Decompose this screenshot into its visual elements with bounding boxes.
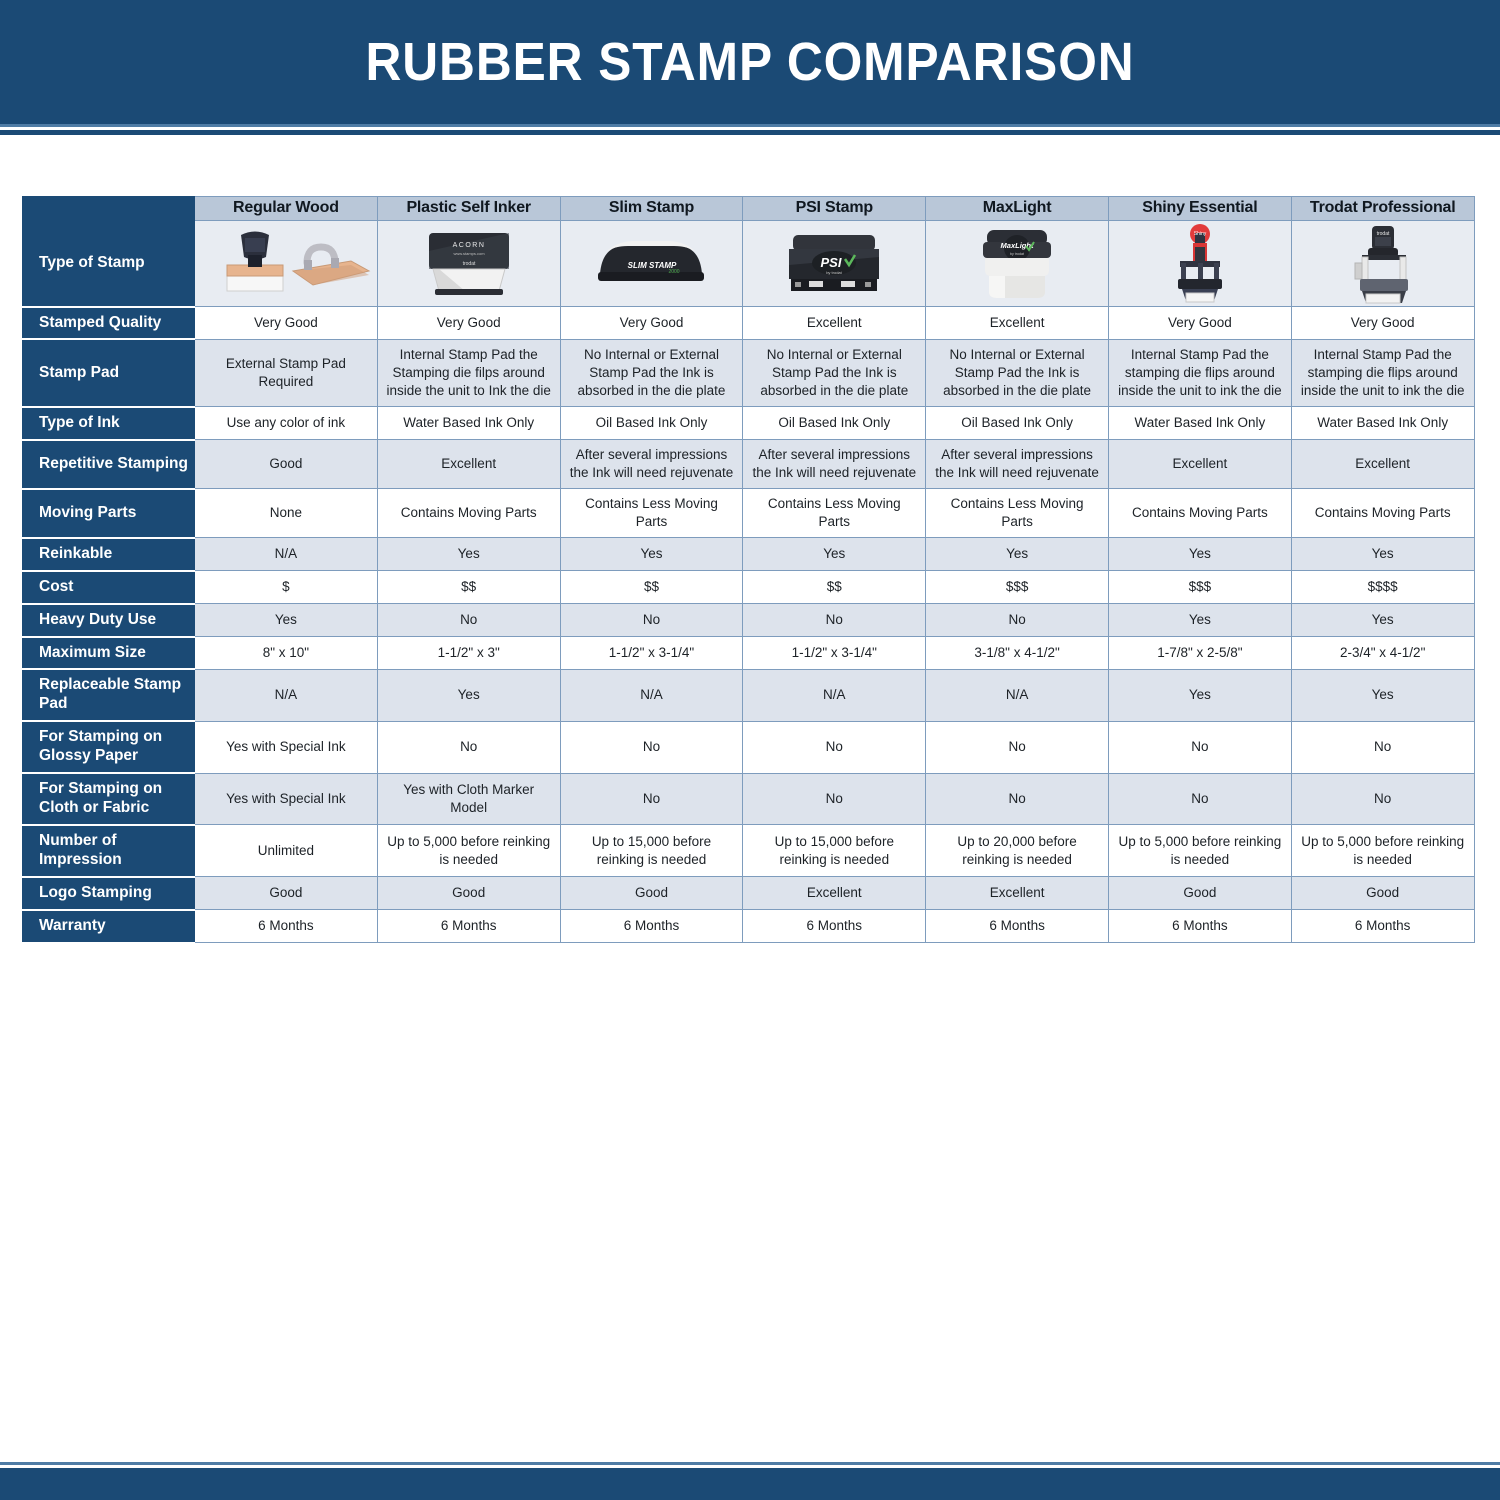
- column-header-slim_stamp: Slim Stamp: [560, 197, 743, 221]
- svg-text:www.stamps.com: www.stamps.com: [453, 251, 485, 256]
- svg-text:PSI: PSI: [821, 255, 842, 270]
- cell-plastic_self_inker: Water Based Ink Only: [377, 407, 560, 440]
- cell-plastic_self_inker: No: [377, 604, 560, 637]
- cell-regular_wood: N/A: [195, 669, 378, 721]
- cell-regular_wood: Good: [195, 440, 378, 489]
- cell-slim_stamp: 6 Months: [560, 910, 743, 943]
- svg-text:trodat: trodat: [1376, 231, 1389, 237]
- cell-psi_stamp: 6 Months: [743, 910, 926, 943]
- cell-plastic_self_inker: Very Good: [377, 307, 560, 340]
- cell-slim_stamp: Up to 15,000 before reinking is needed: [560, 825, 743, 877]
- row-label-stamped-quality: Stamped Quality: [23, 307, 195, 340]
- cell-maxlight: Up to 20,000 before reinking is needed: [926, 825, 1109, 877]
- cell-psi_stamp: 1-1/2" x 3-1/4": [743, 637, 926, 670]
- table-row: For Stamping on Glossy PaperYes with Spe…: [23, 721, 1475, 773]
- cell-shiny_essential: Contains Moving Parts: [1108, 489, 1291, 538]
- plastic-self-inker-icon: ACORN www.stamps.com trodat: [380, 224, 558, 304]
- cell-slim_stamp: No Internal or External Stamp Pad the In…: [560, 339, 743, 406]
- cell-plastic_self_inker: Internal Stamp Pad the Stamping die filp…: [377, 339, 560, 406]
- cell-shiny_essential: Water Based Ink Only: [1108, 407, 1291, 440]
- cell-trodat_professional: Good: [1291, 877, 1474, 910]
- table-row: Type of InkUse any color of inkWater Bas…: [23, 407, 1475, 440]
- table-row: Repetitive StampingGoodExcellentAfter se…: [23, 440, 1475, 489]
- row-label-reinkable: Reinkable: [23, 538, 195, 571]
- cell-trodat_professional: Contains Moving Parts: [1291, 489, 1474, 538]
- cell-trodat_professional: Yes: [1291, 604, 1474, 637]
- cell-psi_stamp: N/A: [743, 669, 926, 721]
- row-label-logo-stamping: Logo Stamping: [23, 877, 195, 910]
- cell-slim_stamp: After several impressions the Ink will n…: [560, 440, 743, 489]
- svg-text:by trodat: by trodat: [826, 270, 842, 275]
- svg-text:ACORN: ACORN: [452, 242, 485, 249]
- cell-regular_wood: Very Good: [195, 307, 378, 340]
- cell-psi_stamp: Excellent: [743, 307, 926, 340]
- cell-psi_stamp: After several impressions the Ink will n…: [743, 440, 926, 489]
- column-header-regular_wood: Regular Wood: [195, 197, 378, 221]
- cell-psi_stamp: Up to 15,000 before reinking is needed: [743, 825, 926, 877]
- cell-maxlight: $$$: [926, 571, 1109, 604]
- stamp-image-cell-trodat_professional: trodat: [1291, 221, 1474, 307]
- cell-plastic_self_inker: Yes: [377, 669, 560, 721]
- row-label-replaceable-stamp-pad: Replaceable Stamp Pad: [23, 669, 195, 721]
- cell-shiny_essential: Good: [1108, 877, 1291, 910]
- cell-shiny_essential: Up to 5,000 before reinking is needed: [1108, 825, 1291, 877]
- cell-maxlight: Excellent: [926, 877, 1109, 910]
- cell-trodat_professional: $$$$: [1291, 571, 1474, 604]
- cell-regular_wood: 8" x 10": [195, 637, 378, 670]
- table-row: Maximum Size8" x 10"1-1/2" x 3"1-1/2" x …: [23, 637, 1475, 670]
- cell-trodat_professional: Up to 5,000 before reinking is needed: [1291, 825, 1474, 877]
- cell-trodat_professional: Yes: [1291, 538, 1474, 571]
- trodat-professional-stamp-icon: trodat: [1294, 224, 1472, 304]
- cell-maxlight: Oil Based Ink Only: [926, 407, 1109, 440]
- cell-trodat_professional: Internal Stamp Pad the stamping die flip…: [1291, 339, 1474, 406]
- cell-slim_stamp: 1-1/2" x 3-1/4": [560, 637, 743, 670]
- row-label-type-of-stamp: Type of Stamp: [23, 221, 195, 307]
- cell-regular_wood: Good: [195, 877, 378, 910]
- cell-trodat_professional: 2-3/4" x 4-1/2": [1291, 637, 1474, 670]
- cell-psi_stamp: Contains Less Moving Parts: [743, 489, 926, 538]
- cell-shiny_essential: Excellent: [1108, 440, 1291, 489]
- cell-regular_wood: External Stamp Pad Required: [195, 339, 378, 406]
- cell-plastic_self_inker: Good: [377, 877, 560, 910]
- cell-shiny_essential: 6 Months: [1108, 910, 1291, 943]
- page-header-banner: Rubber Stamp Comparison: [0, 0, 1500, 124]
- cell-shiny_essential: Yes: [1108, 604, 1291, 637]
- cell-maxlight: Contains Less Moving Parts: [926, 489, 1109, 538]
- cell-shiny_essential: Yes: [1108, 669, 1291, 721]
- row-label-stamp-pad: Stamp Pad: [23, 339, 195, 406]
- cell-psi_stamp: No Internal or External Stamp Pad the In…: [743, 339, 926, 406]
- table-row: Stamped QualityVery GoodVery GoodVery Go…: [23, 307, 1475, 340]
- svg-text:by trodat: by trodat: [1010, 252, 1024, 256]
- cell-maxlight: 3-1/8" x 4-1/2": [926, 637, 1109, 670]
- maxlight-stamp-icon: MaxLight by trodat: [928, 224, 1106, 304]
- cell-regular_wood: Yes with Special Ink: [195, 721, 378, 773]
- cell-regular_wood: Unlimited: [195, 825, 378, 877]
- table-row: For Stamping on Cloth or FabricYes with …: [23, 773, 1475, 825]
- cell-shiny_essential: No: [1108, 773, 1291, 825]
- cell-regular_wood: 6 Months: [195, 910, 378, 943]
- cell-trodat_professional: 6 Months: [1291, 910, 1474, 943]
- table-row: Stamp PadExternal Stamp Pad RequiredInte…: [23, 339, 1475, 406]
- svg-text:trodat: trodat: [462, 261, 475, 267]
- cell-regular_wood: None: [195, 489, 378, 538]
- table-row: Logo StampingGoodGoodGoodExcellentExcell…: [23, 877, 1475, 910]
- cell-slim_stamp: No: [560, 773, 743, 825]
- cell-slim_stamp: $$: [560, 571, 743, 604]
- cell-plastic_self_inker: Yes: [377, 538, 560, 571]
- column-header-trodat_professional: Trodat Professional: [1291, 197, 1474, 221]
- cell-trodat_professional: Very Good: [1291, 307, 1474, 340]
- cell-psi_stamp: Oil Based Ink Only: [743, 407, 926, 440]
- cell-psi_stamp: Yes: [743, 538, 926, 571]
- column-header-maxlight: MaxLight: [926, 197, 1109, 221]
- stamp-image-cell-plastic_self_inker: ACORN www.stamps.com trodat: [377, 221, 560, 307]
- cell-trodat_professional: Yes: [1291, 669, 1474, 721]
- table-row: ReinkableN/AYesYesYesYesYesYes: [23, 538, 1475, 571]
- cell-regular_wood: Yes with Special Ink: [195, 773, 378, 825]
- table-corner-cell: [23, 197, 195, 221]
- cell-trodat_professional: Water Based Ink Only: [1291, 407, 1474, 440]
- cell-plastic_self_inker: $$: [377, 571, 560, 604]
- cell-shiny_essential: Very Good: [1108, 307, 1291, 340]
- cell-slim_stamp: Very Good: [560, 307, 743, 340]
- cell-plastic_self_inker: Contains Moving Parts: [377, 489, 560, 538]
- stamp-image-cell-psi_stamp: PSI by trodat: [743, 221, 926, 307]
- cell-slim_stamp: Contains Less Moving Parts: [560, 489, 743, 538]
- cell-regular_wood: N/A: [195, 538, 378, 571]
- cell-maxlight: N/A: [926, 669, 1109, 721]
- cell-trodat_professional: No: [1291, 773, 1474, 825]
- cell-slim_stamp: N/A: [560, 669, 743, 721]
- cell-psi_stamp: No: [743, 721, 926, 773]
- row-label-maximum-size: Maximum Size: [23, 637, 195, 670]
- row-label-cost: Cost: [23, 571, 195, 604]
- page-title: Rubber Stamp Comparison: [365, 31, 1134, 93]
- cell-regular_wood: $: [195, 571, 378, 604]
- cell-psi_stamp: No: [743, 604, 926, 637]
- cell-regular_wood: Yes: [195, 604, 378, 637]
- cell-plastic_self_inker: Up to 5,000 before reinking is needed: [377, 825, 560, 877]
- cell-plastic_self_inker: No: [377, 721, 560, 773]
- cell-maxlight: Yes: [926, 538, 1109, 571]
- table-row: Replaceable Stamp PadN/AYesN/AN/AN/AYesY…: [23, 669, 1475, 721]
- cell-maxlight: No: [926, 604, 1109, 637]
- table-row: Type of Stamp: [23, 221, 1475, 307]
- table-row: Cost$$$$$$$$$$$$$$$$$: [23, 571, 1475, 604]
- row-label-moving-parts: Moving Parts: [23, 489, 195, 538]
- cell-slim_stamp: Oil Based Ink Only: [560, 407, 743, 440]
- table-row: Warranty6 Months6 Months6 Months6 Months…: [23, 910, 1475, 943]
- table-body: Regular WoodPlastic Self InkerSlim Stamp…: [23, 197, 1475, 943]
- svg-text:2000: 2000: [669, 269, 680, 275]
- cell-regular_wood: Use any color of ink: [195, 407, 378, 440]
- cell-shiny_essential: Internal Stamp Pad the stamping die flip…: [1108, 339, 1291, 406]
- cell-maxlight: No Internal or External Stamp Pad the In…: [926, 339, 1109, 406]
- footer-divider-light: [0, 1462, 1500, 1465]
- cell-trodat_professional: No: [1291, 721, 1474, 773]
- cell-maxlight: Excellent: [926, 307, 1109, 340]
- cell-psi_stamp: $$: [743, 571, 926, 604]
- cell-slim_stamp: No: [560, 721, 743, 773]
- row-label-for-stamping-on-glossy-paper: For Stamping on Glossy Paper: [23, 721, 195, 773]
- cell-maxlight: No: [926, 721, 1109, 773]
- cell-plastic_self_inker: Excellent: [377, 440, 560, 489]
- row-label-repetitive-stamping: Repetitive Stamping: [23, 440, 195, 489]
- cell-maxlight: No: [926, 773, 1109, 825]
- cell-shiny_essential: No: [1108, 721, 1291, 773]
- cell-trodat_professional: Excellent: [1291, 440, 1474, 489]
- cell-psi_stamp: No: [743, 773, 926, 825]
- header-divider-dark: [0, 130, 1500, 135]
- cell-shiny_essential: 1-7/8" x 2-5/8": [1108, 637, 1291, 670]
- comparison-table-container: Regular WoodPlastic Self InkerSlim Stamp…: [22, 196, 1474, 944]
- cell-plastic_self_inker: 1-1/2" x 3": [377, 637, 560, 670]
- row-label-warranty: Warranty: [23, 910, 195, 943]
- cell-shiny_essential: $$$: [1108, 571, 1291, 604]
- header-divider-light: [0, 124, 1500, 127]
- cell-maxlight: 6 Months: [926, 910, 1109, 943]
- row-label-heavy-duty-use: Heavy Duty Use: [23, 604, 195, 637]
- column-header-shiny_essential: Shiny Essential: [1108, 197, 1291, 221]
- table-row: Heavy Duty UseYesNoNoNoNoYesYes: [23, 604, 1475, 637]
- cell-plastic_self_inker: Yes with Cloth Marker Model: [377, 773, 560, 825]
- cell-plastic_self_inker: 6 Months: [377, 910, 560, 943]
- svg-text:Shiny: Shiny: [1194, 231, 1207, 237]
- row-label-for-stamping-on-cloth-or-fabric: For Stamping on Cloth or Fabric: [23, 773, 195, 825]
- row-label-type-of-ink: Type of Ink: [23, 407, 195, 440]
- cell-psi_stamp: Excellent: [743, 877, 926, 910]
- psi-stamp-icon: PSI by trodat: [745, 224, 923, 304]
- cell-maxlight: After several impressions the Ink will n…: [926, 440, 1109, 489]
- cell-slim_stamp: Yes: [560, 538, 743, 571]
- shiny-essential-stamp-icon: Shiny: [1111, 224, 1289, 304]
- stamp-image-cell-maxlight: MaxLight by trodat: [926, 221, 1109, 307]
- table-header-row: Regular WoodPlastic Self InkerSlim Stamp…: [23, 197, 1475, 221]
- table-row: Number of ImpressionUnlimitedUp to 5,000…: [23, 825, 1475, 877]
- cell-slim_stamp: No: [560, 604, 743, 637]
- footer-banner: [0, 1468, 1500, 1500]
- cell-shiny_essential: Yes: [1108, 538, 1291, 571]
- column-header-plastic_self_inker: Plastic Self Inker: [377, 197, 560, 221]
- column-header-psi_stamp: PSI Stamp: [743, 197, 926, 221]
- slim-stamp-icon: SLIM STAMP 2000: [563, 224, 741, 304]
- cell-slim_stamp: Good: [560, 877, 743, 910]
- stamp-image-cell-regular_wood: [195, 221, 378, 307]
- stamp-image-cell-slim_stamp: SLIM STAMP 2000: [560, 221, 743, 307]
- stamp-image-cell-shiny_essential: Shiny: [1108, 221, 1291, 307]
- table-row: Moving PartsNoneContains Moving PartsCon…: [23, 489, 1475, 538]
- row-label-number-of-impression: Number of Impression: [23, 825, 195, 877]
- wood-handle-stamp-icon: [197, 224, 375, 304]
- rubber-stamp-comparison-table: Regular WoodPlastic Self InkerSlim Stamp…: [22, 196, 1475, 944]
